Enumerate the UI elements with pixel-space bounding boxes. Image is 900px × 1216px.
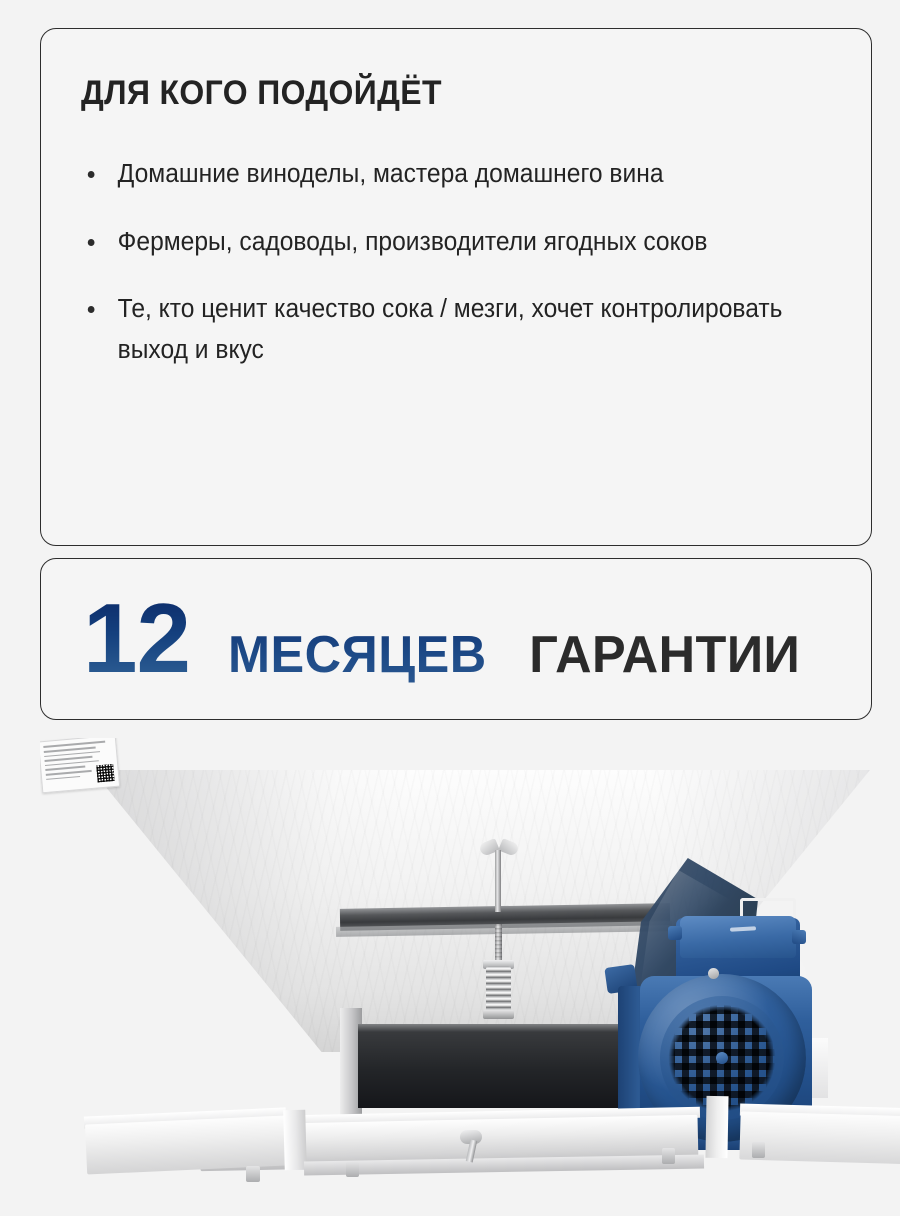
barcode-icon	[96, 764, 114, 782]
rail-joint-right	[705, 1096, 728, 1158]
motor-terminal-box-lid	[680, 916, 796, 958]
crusher-chamber-highlight	[358, 1024, 630, 1032]
list-item-label: Домашние виноделы, мастера домашнего вин…	[118, 160, 664, 188]
list-item-label: Те, кто ценит качество сока / мезги, хоч…	[118, 295, 783, 364]
label-text-line	[46, 770, 92, 776]
compression-spring	[486, 966, 511, 1014]
bullet-dot-icon	[88, 239, 95, 246]
frame-foot	[752, 1142, 765, 1158]
label-text-line	[46, 776, 80, 781]
adjustment-screw-rod-upper	[495, 850, 501, 912]
frame-foot	[346, 1162, 359, 1177]
warranty-months-label: МЕСЯЦЕВ	[228, 625, 487, 685]
product-photo	[40, 738, 900, 1216]
audience-card: ДЛЯ КОГО ПОДОЙДЁТ Домашние виноделы, мас…	[40, 28, 872, 546]
motor-fan-hub	[716, 1052, 728, 1064]
list-item: Домашние виноделы, мастера домашнего вин…	[81, 154, 805, 195]
warranty-number: 12	[83, 594, 190, 682]
frame-foot	[246, 1166, 260, 1182]
motor-box-ear-right	[792, 930, 806, 944]
frame-foot	[662, 1148, 675, 1164]
product-specification-label	[40, 738, 120, 793]
page-root: ДЛЯ КОГО ПОДОЙДЁТ Домашние виноделы, мас…	[0, 0, 900, 1200]
warranty-row: 12 МЕСЯЦЕВ ГАРАНТИИ	[83, 594, 804, 685]
bullet-dot-icon	[88, 171, 95, 178]
motor-bolt	[708, 968, 719, 979]
page-title: ДЛЯ КОГО ПОДОЙДЁТ	[81, 75, 786, 112]
list-item: Те, кто ценит качество сока / мезги, хоч…	[81, 289, 805, 372]
warranty-card: 12 МЕСЯЦЕВ ГАРАНТИИ	[40, 558, 872, 720]
warranty-guarantee-label: ГАРАНТИИ	[529, 625, 800, 685]
audience-bullet-list: Домашние виноделы, мастера домашнего вин…	[81, 154, 831, 371]
spring-cap-bottom	[483, 1010, 514, 1019]
motor-box-ear-left	[668, 926, 682, 940]
bullet-dot-icon	[88, 306, 95, 313]
crusher-chamber	[358, 1024, 630, 1108]
list-item-label: Фермеры, садоводы, производители ягодных…	[118, 228, 708, 256]
label-text-line	[43, 741, 105, 748]
list-item: Фермеры, садоводы, производители ягодных…	[81, 222, 805, 263]
